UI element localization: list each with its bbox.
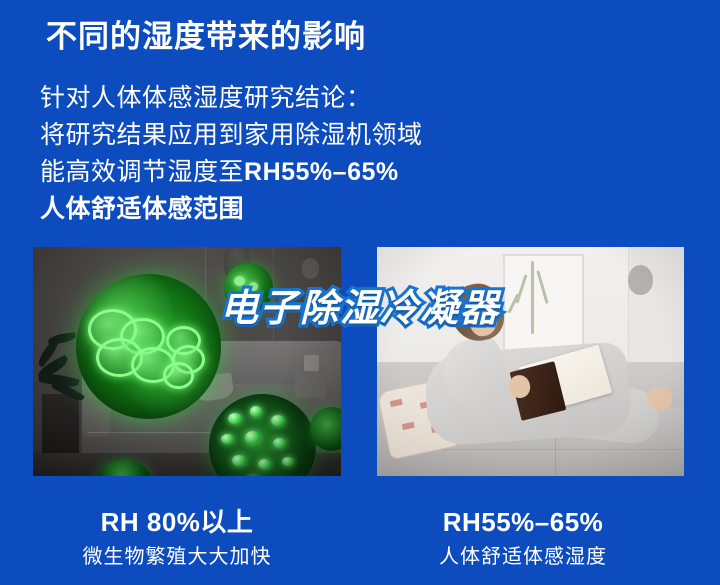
body-line-2: 将研究结果应用到家用除湿机领域 [40,117,423,154]
body-line-4: 人体舒适体感范围 [40,191,423,228]
caption-comfort-humidity: RH55%–65% 人体舒适体感湿度 [352,506,694,572]
body-copy: 针对人体体感湿度研究结论： 将研究结果应用到家用除湿机领域 能高效调节湿度至RH… [40,80,423,228]
body-line-3-highlight: RH55%–65% [244,158,399,186]
watermark-text: 电子除湿冷凝器 [0,277,720,332]
body-line-3: 能高效调节湿度至RH55%–65% [40,154,423,191]
body-line-1: 针对人体体感湿度研究结论： [40,80,423,117]
page-title: 不同的湿度带来的影响 [46,16,366,58]
poster-root: 不同的湿度带来的影响 针对人体体感湿度研究结论： 将研究结果应用到家用除湿机领域… [0,0,720,585]
caption-right-subtitle: 人体舒适体感湿度 [352,542,694,572]
caption-right-title: RH55%–65% [352,506,694,538]
body-line-3-prefix: 能高效调节湿度至 [40,158,244,186]
caption-left-subtitle: 微生物繁殖大大加快 [6,542,348,572]
caption-high-humidity: RH 80%以上 微生物繁殖大大加快 [6,506,348,572]
caption-left-title: RH 80%以上 [6,506,348,538]
